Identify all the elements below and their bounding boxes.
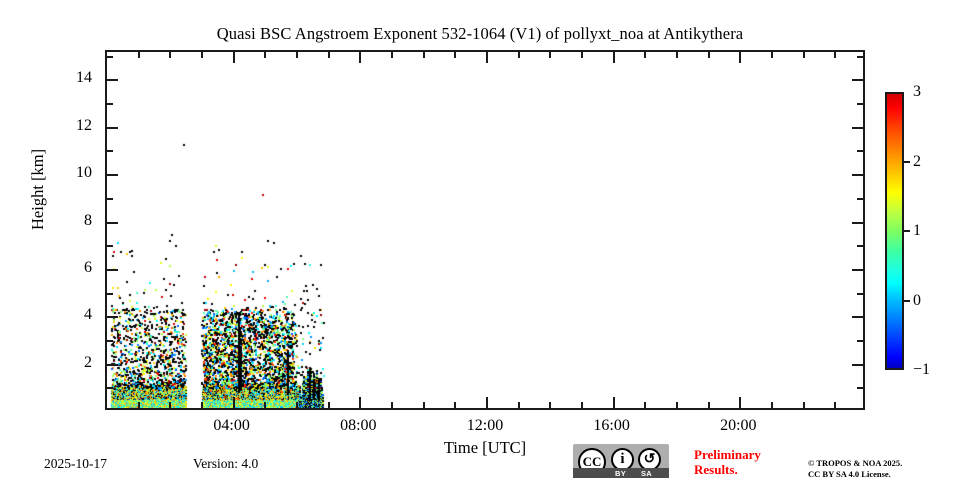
x-axis-minor-tick [518, 52, 520, 58]
y-axis-tick [852, 269, 863, 271]
colorbar-tick [904, 230, 910, 232]
x-axis-minor-tick [803, 402, 805, 408]
plot-area [105, 50, 865, 410]
x-axis-tick-label: 12:00 [467, 418, 503, 434]
x-axis-minor-tick [834, 402, 836, 408]
y-axis-minor-tick [107, 245, 113, 247]
y-axis-tick [852, 174, 863, 176]
x-axis-tick [233, 52, 235, 63]
x-axis-minor-tick [518, 402, 520, 408]
y-axis-tick-label: 10 [76, 165, 92, 181]
y-axis-tick [852, 222, 863, 224]
x-axis-minor-tick [834, 52, 836, 58]
x-axis-minor-tick [328, 402, 330, 408]
x-axis-minor-tick [771, 402, 773, 408]
colorbar-tick [904, 161, 910, 163]
footer-date: 2025-10-17 [44, 456, 107, 472]
y-axis-minor-tick [107, 103, 113, 105]
x-axis-minor-tick [708, 52, 710, 58]
y-axis-minor-tick [107, 198, 113, 200]
cc-sa-label: SA [641, 469, 652, 478]
y-axis-tick [107, 174, 118, 176]
copyright-line-1: © TROPOS & NOA 2025. [808, 458, 902, 469]
y-axis-tick-label: 6 [84, 260, 92, 276]
y-axis-tick [107, 222, 118, 224]
colorbar-tick-label: 0 [913, 293, 921, 309]
x-axis-minor-tick [391, 402, 393, 408]
scatter-data-layer [107, 52, 863, 408]
y-axis-minor-tick [857, 245, 863, 247]
x-axis-minor-tick [264, 402, 266, 408]
x-axis-minor-tick [676, 52, 678, 58]
copyright-note: © TROPOS & NOA 2025. CC BY SA 4.0 Licens… [808, 458, 902, 480]
x-axis-minor-tick [549, 52, 551, 58]
creative-commons-badge-icon[interactable]: CC i ↺ BY SA [573, 444, 669, 478]
colorbar-tick-label: 2 [913, 154, 921, 170]
cc-badge-top-row: CC i ↺ [573, 444, 669, 468]
x-axis-minor-tick [328, 52, 330, 58]
colorbar-gradient [885, 92, 904, 370]
footer-version: Version: 4.0 [193, 456, 258, 472]
colorbar-tick-label: −1 [913, 362, 930, 378]
y-axis-tick [852, 364, 863, 366]
y-axis-minor-tick [857, 387, 863, 389]
x-axis-tick [359, 397, 361, 408]
y-axis-minor-tick [107, 56, 113, 58]
preliminary-line-2: Results. [694, 462, 761, 477]
x-axis-minor-tick [803, 52, 805, 58]
x-axis-tick [613, 52, 615, 63]
x-axis-minor-tick [581, 52, 583, 58]
x-axis-minor-tick [296, 402, 298, 408]
y-axis-minor-tick [857, 103, 863, 105]
x-axis-minor-tick [423, 402, 425, 408]
x-axis-minor-tick [201, 402, 203, 408]
x-axis-tick [486, 397, 488, 408]
y-axis-tick [107, 269, 118, 271]
y-axis-tick [852, 127, 863, 129]
x-axis-tick-label: 08:00 [340, 418, 376, 434]
x-axis-tick [486, 52, 488, 63]
y-axis-tick-label: 14 [76, 70, 92, 86]
y-axis-tick [107, 79, 118, 81]
y-axis-tick-label: 8 [84, 213, 92, 229]
x-axis-minor-tick [644, 52, 646, 58]
x-axis-minor-tick [169, 52, 171, 58]
copyright-line-2: CC BY SA 4.0 License. [808, 469, 902, 480]
x-axis-minor-tick [581, 402, 583, 408]
y-axis-minor-tick [857, 340, 863, 342]
x-axis-minor-tick [169, 402, 171, 408]
cc-badge-bottom-row: BY SA [573, 468, 669, 478]
x-axis-tick-label: 04:00 [213, 418, 249, 434]
x-axis-minor-tick [676, 402, 678, 408]
y-axis-minor-tick [107, 150, 113, 152]
x-axis-minor-tick [454, 402, 456, 408]
x-axis-minor-tick [264, 52, 266, 58]
y-axis-minor-tick [107, 340, 113, 342]
colorbar-tick-label: 3 [913, 84, 921, 100]
y-axis-minor-tick [857, 56, 863, 58]
x-axis-minor-tick [771, 52, 773, 58]
x-axis-tick [739, 52, 741, 63]
preliminary-results-note: Preliminary Results. [694, 447, 761, 477]
y-axis-tick [852, 316, 863, 318]
x-axis-tick [613, 397, 615, 408]
x-axis-minor-tick [391, 52, 393, 58]
x-axis-minor-tick [138, 402, 140, 408]
x-axis-minor-tick [644, 402, 646, 408]
x-axis-minor-tick [708, 402, 710, 408]
x-axis-minor-tick [454, 52, 456, 58]
x-axis-tick-label: 20:00 [720, 418, 756, 434]
y-axis-minor-tick [857, 198, 863, 200]
colorbar-tick-label: 1 [913, 223, 921, 239]
x-axis-minor-tick [296, 52, 298, 58]
preliminary-line-1: Preliminary [694, 447, 761, 462]
y-axis-tick-label: 12 [76, 118, 92, 134]
y-axis-minor-tick [857, 293, 863, 295]
y-axis-tick [852, 79, 863, 81]
colorbar-tick [904, 300, 910, 302]
y-axis-tick [107, 364, 118, 366]
cc-by-label: BY [615, 469, 626, 478]
y-axis-tick-label: 4 [84, 307, 92, 323]
x-axis-tick [233, 397, 235, 408]
x-axis-tick [739, 397, 741, 408]
y-axis-tick-label: 2 [84, 355, 92, 371]
y-axis-tick [107, 316, 118, 318]
x-axis-minor-tick [138, 52, 140, 58]
x-axis-minor-tick [549, 402, 551, 408]
colorbar: −10123 [885, 92, 904, 370]
y-axis-tick [107, 127, 118, 129]
x-axis-minor-tick [423, 52, 425, 58]
x-axis-minor-tick [201, 52, 203, 58]
x-axis-tick-label: 16:00 [593, 418, 629, 434]
y-axis-minor-tick [107, 293, 113, 295]
y-axis-title: Height [km] [28, 149, 48, 230]
page-title: Quasi BSC Angstroem Exponent 532-1064 (V… [0, 24, 960, 44]
x-axis-tick [359, 52, 361, 63]
y-axis-minor-tick [107, 387, 113, 389]
y-axis-minor-tick [857, 150, 863, 152]
